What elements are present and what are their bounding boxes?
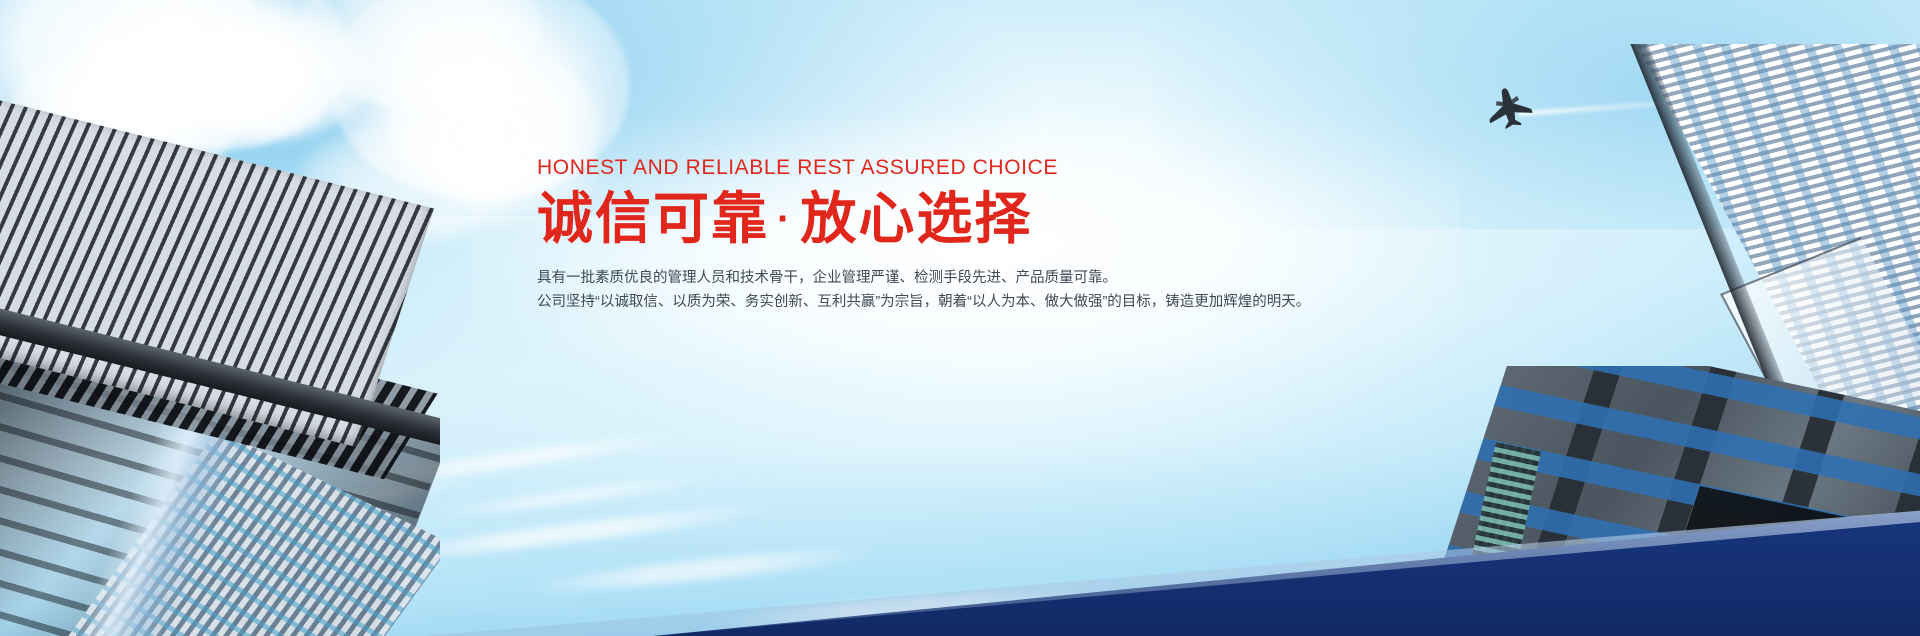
left-skyscraper bbox=[0, 78, 440, 636]
description-line-2: 公司坚持“以诚取信、以质为荣、务实创新、互利共赢”为宗旨，朝着“以人为本、做大做… bbox=[537, 290, 1397, 314]
english-tagline: HONEST AND RELIABLE REST ASSURED CHOICE bbox=[537, 155, 1397, 180]
headline-left: 诚信可靠 bbox=[537, 187, 769, 250]
headline-separator-dot: · bbox=[769, 197, 800, 241]
headline-right: 放心选择 bbox=[800, 187, 1032, 250]
banner-copy: HONEST AND RELIABLE REST ASSURED CHOICE … bbox=[537, 155, 1397, 314]
hero-banner: HONEST AND RELIABLE REST ASSURED CHOICE … bbox=[0, 0, 1920, 636]
description-line-1: 具有一批素质优良的管理人员和技术骨干，企业管理严谨、检测手段先进、产品质量可靠。 bbox=[537, 266, 1397, 290]
page-title: 诚信可靠·放心选择 bbox=[537, 186, 1397, 252]
